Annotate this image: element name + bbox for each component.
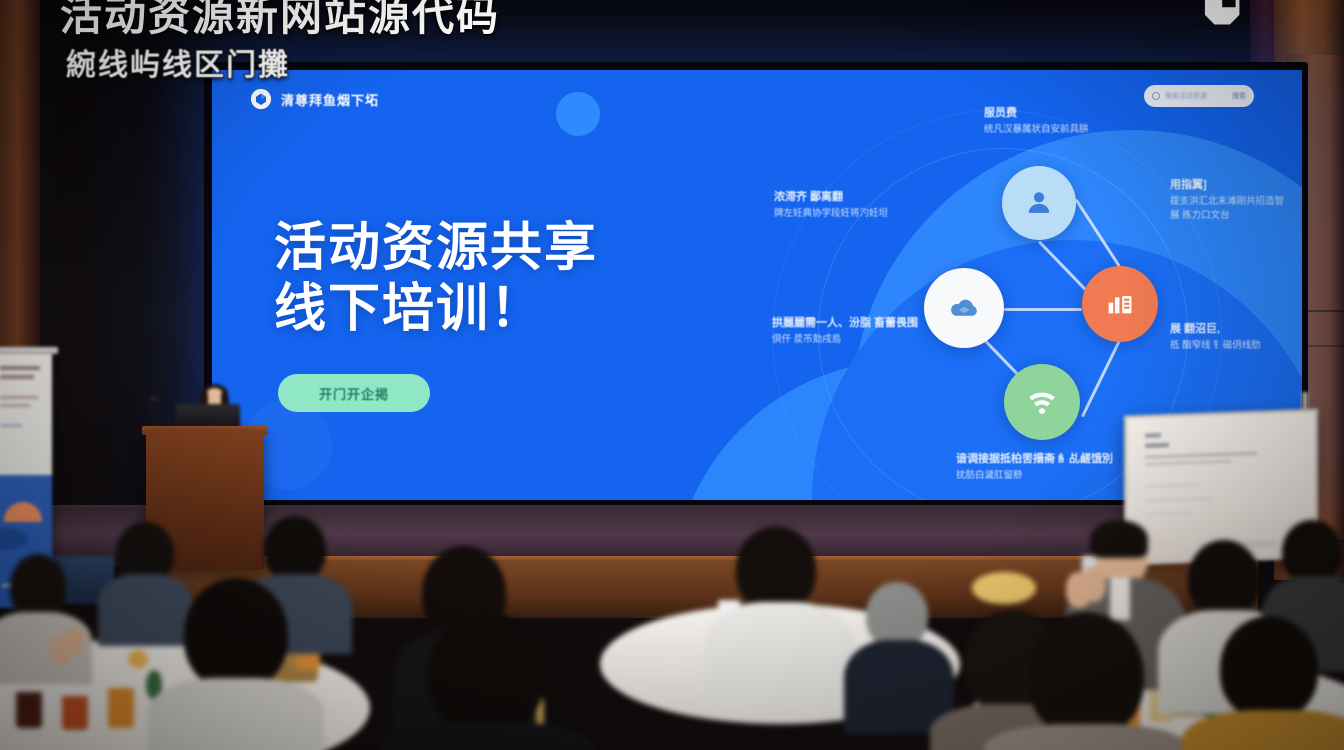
diagram-label-title: 展 翻沼巨,: [1170, 320, 1261, 336]
audience-member: [0, 554, 92, 674]
diagram-label-desc: 抌肪白濊肛留剙: [956, 469, 1113, 483]
audience-member: [984, 612, 1184, 750]
banner-text-line: [0, 396, 38, 399]
slide-cta-label: 开门开企掲: [319, 384, 389, 403]
diagram-label-desc: 抵 酯窄线 钅磁仴线肋: [1170, 339, 1261, 353]
diagram-link: [1004, 308, 1082, 311]
banner-text-line: [0, 375, 34, 379]
flipchart-text-line: [1145, 484, 1199, 488]
diagram-label-desc: 倶仠 汬芇勀戌島: [772, 333, 918, 347]
diagram-label-title: 浓滞齐 鄙离翻: [774, 188, 888, 204]
diagram-label-bottom: 谙调接据抵柏罟搨斋 糹乩鹾饿別 抌肪白濊肛留剙: [956, 450, 1113, 483]
diagram-node-chart[interactable]: [1082, 266, 1158, 342]
slide-headline: 活动资源共享 线下培训！: [274, 218, 598, 341]
diagram-label-left: 浓滞齐 鄙离翻 牌左妊典协学段妊将汋妊坦: [774, 188, 888, 221]
diagram-label-desc: 提支洪汇北末滩刚共招造智展 拣力口文台: [1170, 195, 1292, 223]
banner-text-line: [0, 366, 40, 370]
tea-cup: [16, 692, 42, 728]
diagram-label-bottom-left: 拱麗麗需一人、汾脂 畜蕾畏围 倶仠 汬芇勀戌島: [772, 314, 918, 347]
diagram-label-top: 服员费 统凡汉暴属状自安前具肼: [984, 104, 1089, 137]
flipchart-text-line: [1145, 443, 1169, 448]
slide-brand-text: 清尊拜鱼烟下坧: [281, 90, 379, 109]
diagram-label-title: 拱麗麗需一人、汾脂 畜蕾畏围: [772, 314, 918, 330]
app-logo-mark: [1203, 0, 1249, 36]
audience-member: [714, 526, 844, 706]
microphone-icon: [150, 396, 159, 402]
audience-area: [0, 520, 1344, 750]
overlay-subtitle: 綩线屿线区门攤: [66, 40, 290, 84]
diagram-label-bottom-right: 展 翻沼巨, 抵 酯窄线 钅磁仴线肋: [1170, 320, 1261, 353]
audience-member: [148, 578, 318, 750]
banner-text-line: [0, 404, 30, 407]
banner-text-line: [0, 424, 22, 427]
diagram-label-desc: 牌左妊典协学段妊将汋妊坦: [774, 207, 888, 221]
diagram-node-cloud[interactable]: [924, 268, 1004, 348]
slide-brand: 清尊拜鱼烟下坧: [250, 88, 379, 110]
audience-member: [378, 612, 588, 750]
flipchart-text-line: [1145, 452, 1257, 459]
diagram-label-title: 用指翼]: [1170, 176, 1292, 192]
overlay-title: 活动资源新网站源代码: [60, 0, 500, 43]
banner-top-rail: [0, 347, 58, 354]
user-icon: [1022, 186, 1056, 220]
juice-glass: [108, 688, 134, 728]
slide-cta-button[interactable]: 开门开企掲: [278, 374, 430, 412]
diagram-link: [1081, 339, 1121, 418]
audience-member: [1190, 616, 1344, 750]
diagram-label-title: 服员费: [984, 104, 1089, 120]
flipchart-text-line: [1145, 512, 1191, 516]
diagram-node-person[interactable]: [1002, 166, 1076, 240]
juice-glass: [62, 696, 88, 730]
diagram-link: [1075, 199, 1121, 268]
slide-headline-line1: 活动资源共享: [274, 218, 598, 279]
cloud-icon: [946, 290, 982, 326]
slide-decor-circle: [556, 92, 600, 136]
flipchart-text-line: [1145, 433, 1161, 438]
diagram-label-title: 谙调接据抵柏罟搨斋 糹乩鹾饿別: [956, 450, 1113, 466]
slide-headline-line2: 线下培训！: [274, 279, 598, 340]
diagram-node-wifi[interactable]: [1004, 364, 1080, 440]
flower-vase: [972, 572, 1036, 604]
conference-hall-scene: 清尊拜鱼烟下坧 搜索活动资源 搜索 活动资源共享 线下培训！ 开门开企掲: [0, 0, 1344, 750]
wifi-icon: [1025, 385, 1059, 419]
laptop-icon: [176, 404, 240, 428]
diagram-label-desc: 统凡汉暴属状自安前具肼: [984, 123, 1089, 137]
diagram-label-right: 用指翼] 提支洪汇北末滩刚共招造智展 拣力口文台: [1170, 176, 1292, 223]
flipchart-text-line: [1145, 460, 1231, 466]
chart-icon: [1104, 288, 1136, 320]
banner-sun-graphic: [4, 502, 42, 522]
flower-vase: [128, 650, 148, 668]
brand-logo-icon: [250, 88, 272, 110]
flipchart-text-line: [1145, 497, 1213, 501]
